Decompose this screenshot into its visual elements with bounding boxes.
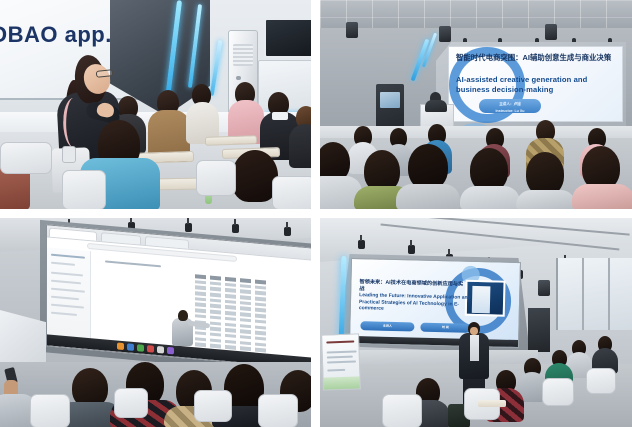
taskbar-icon[interactable]	[167, 347, 174, 355]
poster-line	[327, 356, 353, 359]
collage-panel-top-left: OBAO app.	[0, 0, 311, 209]
desk	[478, 400, 506, 407]
slide-chip-presenter-label: 主讲人	[360, 321, 414, 331]
lecture-hall-scene: 智能时代电商突围：AI辅助创意生成与商业决策 AI-assisted creat…	[320, 0, 632, 209]
presentation-screen: 智领未来：AI技术在电商领域的创新应用与实战 Leading the Futur…	[349, 258, 521, 348]
ceiling-speaker	[439, 26, 451, 42]
standing-poster	[321, 333, 361, 390]
taskbar-icon[interactable]	[157, 346, 164, 354]
presentation-screen: 智能时代电商突围：AI辅助创意生成与商业决策 AI-assisted creat…	[448, 46, 623, 122]
taskbar-icon[interactable]	[137, 344, 144, 352]
chair-back	[30, 394, 70, 427]
taskbar-icon[interactable]	[127, 343, 134, 351]
slide-chip-time-label: 时 间	[420, 323, 470, 333]
audience-torso-front	[396, 184, 460, 209]
chair-back	[196, 160, 236, 196]
speaker-face	[470, 327, 478, 335]
rack-monitor	[380, 92, 400, 108]
side-cabinet	[528, 308, 550, 352]
chair-back	[586, 368, 616, 394]
taskbar-icon[interactable]	[147, 345, 154, 353]
window-mullion	[582, 258, 584, 330]
slide-presenter-cn: 主讲人：卢旭	[479, 99, 541, 107]
slide-title-english: AI-assisted creative generation and busi…	[456, 75, 618, 94]
chair-back	[194, 390, 232, 422]
slide-chip-presenter: 主讲人	[360, 321, 414, 331]
audience-torso-front	[572, 184, 632, 209]
presenter-badge	[62, 146, 76, 163]
air-conditioner-grille	[233, 44, 253, 66]
audience-torso-front	[460, 186, 520, 209]
poster-line	[327, 360, 356, 363]
camera-icon	[185, 223, 192, 232]
photo-collage: OBAO app.	[0, 0, 632, 427]
ceiling-speaker	[545, 24, 557, 40]
slide-title-chinese: 智能时代电商突围：AI辅助创意生成与商业决策	[456, 53, 616, 62]
chair-back	[542, 378, 574, 406]
poster-footer-band	[324, 376, 360, 389]
chair-back	[0, 142, 52, 174]
chair-back	[62, 170, 106, 209]
page-heading	[105, 260, 161, 267]
ceiling-speaker	[346, 22, 358, 38]
slide-presenter-en: Instructor: Lu Xu	[479, 107, 541, 115]
slide-presenter-pill: 主讲人：卢旭 Instructor: Lu Xu	[479, 99, 541, 113]
window-mullion	[608, 258, 610, 330]
taskbar-icon[interactable]	[117, 342, 124, 350]
ai-lecture-hall-scene: 智领未来：AI技术在电商领域的创新应用与实战 Leading the Futur…	[320, 218, 632, 427]
window-wall	[556, 258, 632, 330]
corner-speaker	[538, 280, 550, 296]
desk	[205, 135, 257, 146]
whiteboard-text: OBAO app.	[0, 22, 112, 48]
speaker-shirt	[470, 335, 479, 361]
air-conditioner-led	[236, 76, 241, 80]
slide-title-english-line2: Practical Strategies of AI Technology in…	[359, 299, 471, 315]
wall-monitor	[264, 18, 311, 58]
chair-back	[382, 394, 422, 427]
chair-back	[114, 388, 148, 418]
poster-line	[326, 341, 354, 344]
chair-back	[258, 394, 298, 427]
slide-title-english: Leading the Future: Innovative Applicati…	[359, 292, 471, 315]
collage-panel-bottom-left	[0, 218, 311, 427]
camera-icon	[358, 240, 365, 249]
attendee-collar	[272, 112, 288, 120]
poster-line	[327, 369, 345, 372]
presenter-head	[178, 310, 188, 321]
poster-line	[327, 350, 357, 353]
led-wall-screen	[46, 224, 311, 369]
camera-icon	[232, 224, 239, 233]
seminar-room-scene: OBAO app.	[0, 0, 311, 209]
collage-panel-bottom-right: 智领未来：AI技术在电商领域的创新应用与实战 Leading the Futur…	[320, 218, 632, 427]
camera-icon	[408, 245, 415, 254]
collage-panel-top-right: 智能时代电商突围：AI辅助创意生成与商业决策 AI-assisted creat…	[320, 0, 632, 209]
audience-torso-front	[516, 190, 576, 209]
slide-image-inner	[472, 286, 491, 313]
chair-back	[272, 176, 311, 209]
camera-icon	[284, 227, 291, 236]
led-wall-scene	[0, 218, 311, 427]
speaker-body	[425, 100, 447, 112]
slide-chip-time: 时 间	[420, 323, 470, 333]
attendee-torso	[289, 124, 311, 168]
